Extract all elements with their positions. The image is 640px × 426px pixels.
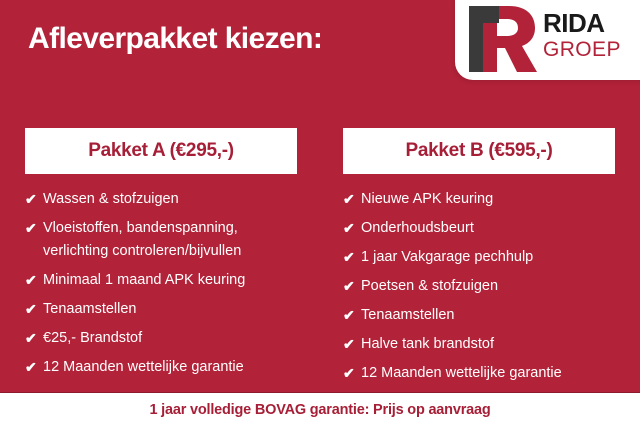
feature-label: Wassen & stofzuigen [43,188,297,211]
afleverpakket-banner: Afleverpakket kiezen: RIDA GROEP Pakket … [0,0,640,426]
feature-label: 1 jaar Vakgarage pechhulp [361,246,615,269]
banner-header: Afleverpakket kiezen: RIDA GROEP [0,0,640,95]
feature-label: 12 Maanden wettelijke garantie [361,362,615,385]
check-icon: ✔ [25,298,43,321]
rida-r-monogram-icon [469,6,537,72]
list-item: ✔Tenaamstellen [343,304,615,327]
feature-label: 12 Maanden wettelijke garantie [43,356,297,379]
feature-label: €25,- Brandstof [43,327,297,350]
feature-label: Onderhoudsbeurt [361,217,615,240]
check-icon: ✔ [343,246,361,269]
check-icon: ✔ [25,269,43,292]
list-item: ✔Minimaal 1 maand APK keuring [25,269,297,292]
package-b-title: Pakket B (€595,-) [406,140,553,162]
check-icon: ✔ [343,275,361,298]
feature-label: Tenaamstellen [361,304,615,327]
list-item: ✔€25,- Brandstof [25,327,297,350]
list-item: ✔1 jaar Vakgarage pechhulp [343,246,615,269]
logo-wordmark: RIDA GROEP [543,10,639,68]
list-item: ✔Nieuwe APK keuring [343,188,615,211]
check-icon: ✔ [343,362,361,385]
footer-bar: 1 jaar volledige BOVAG garantie: Prijs o… [0,392,640,426]
list-item: ✔Tenaamstellen [25,298,297,321]
list-item: ✔Onderhoudsbeurt [343,217,615,240]
list-item: ✔Poetsen & stofzuigen [343,275,615,298]
check-icon: ✔ [343,217,361,240]
package-b-feature-list: ✔Nieuwe APK keuring✔Onderhoudsbeurt✔1 ja… [343,188,615,385]
footer-guarantee-text: 1 jaar volledige BOVAG garantie: Prijs o… [149,402,490,418]
list-item: ✔12 Maanden wettelijke garantie [25,356,297,379]
list-item: ✔Halve tank brandstof [343,333,615,356]
feature-label: Nieuwe APK keuring [361,188,615,211]
package-a-header: Pakket A (€295,-) [25,128,297,174]
check-icon: ✔ [343,188,361,211]
check-icon: ✔ [25,356,43,379]
package-a-title: Pakket A (€295,-) [88,140,234,162]
check-icon: ✔ [343,333,361,356]
list-item: ✔12 Maanden wettelijke garantie [343,362,615,385]
feature-label: Poetsen & stofzuigen [361,275,615,298]
package-card-a[interactable]: Pakket A (€295,-) ✔Wassen & stofzuigen✔V… [25,128,297,385]
rida-groep-logo[interactable]: RIDA GROEP [455,0,640,80]
check-icon: ✔ [343,304,361,327]
logo-name-groep: GROEP [543,38,639,62]
package-card-b[interactable]: Pakket B (€595,-) ✔Nieuwe APK keuring✔On… [343,128,615,391]
package-b-header: Pakket B (€595,-) [343,128,615,174]
check-icon: ✔ [25,217,43,240]
check-icon: ✔ [25,188,43,211]
feature-label: Vloeistoffen, bandenspanning, verlichtin… [43,217,297,263]
package-a-feature-list: ✔Wassen & stofzuigen✔Vloeistoffen, bande… [25,188,297,379]
list-item: ✔Vloeistoffen, bandenspanning, verlichti… [25,217,297,263]
check-icon: ✔ [25,327,43,350]
feature-label: Minimaal 1 maand APK keuring [43,269,297,292]
list-item: ✔Wassen & stofzuigen [25,188,297,211]
logo-name-rida: RIDA [543,10,639,36]
package-columns: Pakket A (€295,-) ✔Wassen & stofzuigen✔V… [0,128,640,368]
page-title: Afleverpakket kiezen: [28,22,322,56]
feature-label: Halve tank brandstof [361,333,615,356]
feature-label: Tenaamstellen [43,298,297,321]
